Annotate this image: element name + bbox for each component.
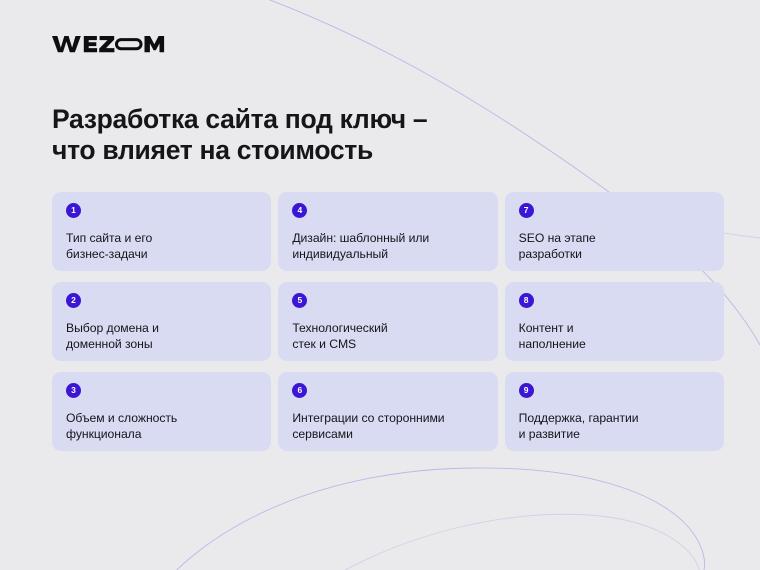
factor-card-7[interactable]: 7 SEO на этапе разработки [505, 192, 724, 271]
factor-card-1[interactable]: 1 Тип сайта и его бизнес-задачи [52, 192, 271, 271]
card-number-badge: 2 [66, 293, 81, 308]
factor-card-3[interactable]: 3 Объем и сложность функционала [52, 372, 271, 451]
card-label: Поддержка, гарантии и развитие [519, 411, 710, 442]
factor-card-9[interactable]: 9 Поддержка, гарантии и развитие [505, 372, 724, 451]
card-label: Объем и сложность функционала [66, 411, 257, 442]
factor-card-6[interactable]: 6 Интеграции со сторонними сервисами [278, 372, 497, 451]
card-label: Выбор домена и доменной зоны [66, 321, 257, 352]
card-number-badge: 8 [519, 293, 534, 308]
wezom-wordmark-icon [52, 32, 165, 56]
card-number-badge: 6 [292, 383, 307, 398]
card-number-badge: 7 [519, 203, 534, 218]
card-label: Технологический стек и CMS [292, 321, 483, 352]
card-number-badge: 5 [292, 293, 307, 308]
card-label: SEO на этапе разработки [519, 231, 710, 262]
card-number-badge: 4 [292, 203, 307, 218]
factor-card-5[interactable]: 5 Технологический стек и CMS [278, 282, 497, 361]
factor-card-4[interactable]: 4 Дизайн: шаблонный или индивидуальный [278, 192, 497, 271]
factor-card-2[interactable]: 2 Выбор домена и доменной зоны [52, 282, 271, 361]
card-label: Контент и наполнение [519, 321, 710, 352]
card-label: Интеграции со сторонними сервисами [292, 411, 483, 442]
slide-canvas: Разработка сайта под ключ – что влияет н… [0, 0, 760, 570]
card-label: Дизайн: шаблонный или индивидуальный [292, 231, 483, 262]
wezom-o-capsule-icon [117, 40, 142, 49]
slide-title: Разработка сайта под ключ – что влияет н… [52, 104, 612, 166]
factors-card-grid: 1 Тип сайта и его бизнес-задачи 4 Дизайн… [52, 192, 724, 451]
card-number-badge: 1 [66, 203, 81, 218]
brand-logo [52, 31, 165, 57]
card-number-badge: 9 [519, 383, 534, 398]
factor-card-8[interactable]: 8 Контент и наполнение [505, 282, 724, 361]
card-number-badge: 3 [66, 383, 81, 398]
card-label: Тип сайта и его бизнес-задачи [66, 231, 257, 262]
